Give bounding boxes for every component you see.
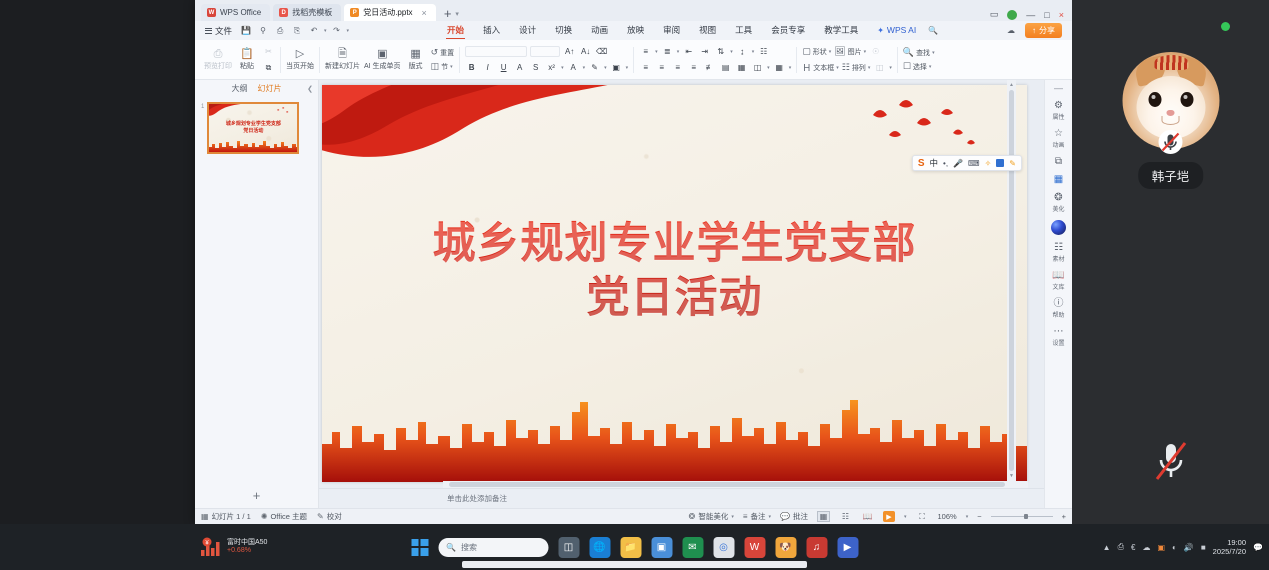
textbox-label: 文本框 (813, 63, 834, 73)
app-tab-label: 找稻壳模板 (292, 7, 332, 18)
slide-icon: ▦ (201, 512, 209, 521)
chevron-down-icon: ▾ (932, 50, 935, 56)
arrange-button[interactable]: ☷ 排列 ▾ (842, 62, 871, 73)
slide-count-indicator[interactable]: ▦ 幻灯片 1 / 1 (201, 511, 251, 522)
toolbox-icon[interactable]: ✧ (985, 159, 992, 168)
app-icon[interactable]: ▣ (1157, 543, 1165, 552)
qq-icon[interactable]: 🐶 (775, 537, 796, 558)
copy-icon[interactable]: ⧉ (262, 61, 275, 74)
ribbon-group-clipboard: ⎙ 预览打印 📋 粘贴 ✂ ⧉ (199, 40, 280, 79)
highlight-color-icon[interactable]: ✎ (588, 61, 601, 74)
align-right-icon[interactable]: ≡ (671, 61, 684, 74)
comment-icon: 💬 (780, 512, 790, 521)
chevron-down-icon[interactable]: ▾ (966, 514, 969, 520)
tab-teaching-tools[interactable]: 教学工具 (815, 21, 867, 40)
icon-library-icon[interactable]: ☉ (869, 45, 882, 58)
columns-icon[interactable]: ▤ (719, 61, 732, 74)
close-window-icon[interactable]: × (1059, 10, 1064, 20)
close-tab-icon[interactable]: × (422, 8, 427, 18)
align-objects-icon[interactable]: ◫ (873, 61, 886, 74)
clear-format-icon[interactable]: ⌫ (595, 45, 608, 58)
align-left-icon[interactable]: ≡ (639, 61, 652, 74)
cat-eye-right (1180, 92, 1193, 107)
shape-button[interactable]: ▢ 形状 ▾ (802, 46, 831, 57)
tab-outline[interactable]: 大纲 (232, 83, 248, 94)
desktop-strip (462, 561, 807, 568)
tab-list-chevron-icon[interactable]: ▾ (455, 10, 459, 21)
sidebar-item-library[interactable]: 📖 文库 (1045, 270, 1072, 291)
layout-label: 版式 (409, 61, 423, 71)
undo-icon[interactable]: ↶ (307, 24, 321, 38)
punctuation-icon[interactable]: •, (943, 159, 948, 168)
slide-thumbnail-1[interactable]: 城乡规划专业学生党支部 党日活动 (207, 102, 299, 154)
ribbon-group-objects: ▢ 形状 ▾ 🖼 图片 ▾ ☉ Ｈ (797, 40, 897, 79)
chevron-down-icon: ▾ (769, 514, 772, 520)
chevron-down-icon: ▾ (731, 514, 734, 520)
zoom-in-button[interactable]: + (1062, 512, 1066, 521)
notes-label: 备注 (751, 511, 766, 522)
stock-info: 富时中国A50 +0.68% (227, 539, 267, 555)
slideshow-button[interactable]: ▶ (883, 511, 895, 522)
shape-icon: ▢ (802, 46, 811, 57)
search-icon[interactable]: 🔍 (926, 24, 940, 38)
chevron-down-icon[interactable]: ▾ (677, 49, 680, 55)
zoom-out-button[interactable]: − (977, 512, 981, 521)
number-list-icon[interactable]: ≣ (661, 45, 674, 58)
stock-change: +0.68% (227, 547, 267, 555)
bullet-list-icon[interactable]: ≡ (639, 45, 652, 58)
library-icon: 📖 (1052, 270, 1064, 281)
windows-start-icon[interactable] (411, 539, 428, 556)
thumbnail-title-line2: 党日活动 (209, 128, 297, 135)
beautify-icon: ❂ (689, 512, 696, 521)
chevron-down-icon[interactable]: ▾ (767, 65, 770, 71)
text-effect-icon[interactable]: A (513, 61, 526, 74)
undo-chevron-icon[interactable]: ▾ (324, 28, 327, 34)
text-direction-icon[interactable]: ↨ (736, 45, 749, 58)
sidebar-item-apps[interactable]: ▦ (1045, 174, 1072, 185)
search-input[interactable]: 🔍 搜索 (438, 538, 548, 557)
share-button[interactable]: ↑ 分享 (1025, 23, 1062, 38)
app-tab-label: WPS Office (220, 8, 261, 17)
select-icon: ☐ (903, 61, 911, 72)
scroll-down-icon[interactable]: ▼ (1009, 473, 1014, 479)
ribbon-group-start-here: ▷ 当页开始 (281, 40, 319, 79)
clock-time: 19:00 (1227, 538, 1246, 547)
ai-sphere-icon (1051, 220, 1066, 235)
red-ribbon-graphic (207, 102, 262, 119)
slide-number: 1 (201, 102, 204, 154)
textbox-icon: Ｈ (802, 61, 811, 74)
slide-title-line1: 城乡规划专业学生党支部 (322, 217, 1027, 271)
tab-transition[interactable]: 切换 (546, 21, 581, 40)
search-icon: 🔍 (446, 543, 456, 552)
mic-muted-large-icon[interactable] (1154, 440, 1188, 482)
new-slide-button[interactable]: 🗎 新建幻灯片 (325, 48, 360, 71)
beautify-label: 智能美化 (698, 511, 728, 522)
save-icon[interactable]: 💾 (239, 24, 253, 38)
increase-font-size-icon[interactable]: A↑ (563, 45, 576, 58)
chevron-down-icon[interactable]: ▾ (604, 65, 607, 71)
folder-icon[interactable]: 📁 (620, 537, 641, 558)
sidebar-item-properties[interactable]: ⚙ 属性 (1045, 100, 1072, 121)
material-icon: ☷ (1054, 242, 1063, 253)
maximize-icon[interactable]: □ (1044, 10, 1049, 20)
ai-page-icon: ▣ (377, 48, 387, 60)
chevron-down-icon: ▾ (864, 49, 867, 55)
keyboard-icon[interactable]: ⌨ (968, 159, 980, 168)
docer-icon: D (279, 8, 288, 17)
theme-icon: ✺ (261, 512, 268, 521)
ribbon-tabs: 开始 插入 设计 切换 动画 放映 审阅 视图 工具 会员专享 教学工具 ✦ W… (438, 21, 940, 40)
minimize-icon[interactable]: — (1026, 10, 1035, 20)
clock-date: 2025/7/20 (1213, 547, 1246, 556)
new-slide-icon: 🗎 (338, 48, 347, 60)
voice-input-icon[interactable]: 🎤 (953, 159, 963, 168)
section-icon: ◫ (431, 61, 440, 72)
proofread-button[interactable]: ✎ 校对 (317, 511, 342, 522)
taskbar-clock[interactable]: 19:00 2025/7/20 (1213, 538, 1246, 556)
thumbnail-list: 1 城乡规划专业学生党支部 (195, 97, 318, 159)
taskbar-widget-stock[interactable]: ¥ 富时中国A50 +0.68% (200, 537, 267, 557)
table-icon[interactable]: ▦ (773, 61, 786, 74)
decrease-font-size-icon[interactable]: A↓ (579, 45, 592, 58)
reset-button[interactable]: ↺ 重置 (431, 47, 455, 58)
sogou-ime-toolbar[interactable]: S 中 •, 🎤 ⌨ ✧ ✎ (912, 155, 1022, 171)
tab-member[interactable]: 会员专享 (762, 21, 814, 40)
taskbar-center: 🔍 搜索 ◫ 🌐 📁 ▣ ✉ ◎ W 🐶 ♫ ▶ (411, 537, 858, 558)
status-bar-right: ❂ 智能美化 ▾ ≡ 备注 ▾ 💬 批注 ▦ ☷ 📖 ▶ ▾ ⛶ (689, 511, 1066, 522)
horizontal-scrollbar[interactable] (443, 481, 1028, 488)
underline-icon[interactable]: U (497, 61, 510, 74)
chevron-down-icon[interactable]: ▾ (889, 65, 892, 71)
file-menu-label: 文件 (215, 25, 232, 37)
birds-graphic (275, 106, 293, 115)
cat-eye-left (1148, 92, 1161, 107)
chevron-down-icon[interactable]: ▾ (752, 49, 755, 55)
align-vertical-icon[interactable]: ▦ (735, 61, 748, 74)
chevron-down-icon[interactable]: ▾ (583, 65, 586, 71)
tab-wps-ai[interactable]: ✦ WPS AI (868, 21, 925, 40)
wifi-icon[interactable]: ◐ (1172, 543, 1177, 552)
italic-icon[interactable]: I (481, 61, 494, 74)
line-spacing-icon[interactable]: ⇅ (714, 45, 727, 58)
find-label: 查找 (916, 48, 930, 58)
birds-graphic (855, 99, 985, 159)
chevron-up-icon[interactable]: ▲ (1103, 543, 1111, 552)
indent-decrease-icon[interactable]: ⇤ (682, 45, 695, 58)
thumbnail-title: 城乡规划专业学生党支部 党日活动 (209, 121, 297, 134)
proofread-label: 校对 (327, 511, 342, 522)
system-tray: ▲ ⎙ € ☁ ▣ ◐ 🔊 ■ 19:00 2025/7/20 💬 (1103, 538, 1263, 556)
wps-office-window: W WPS Office D 找稻壳模板 P 党日活动.pptx × + ▾ ▭… (195, 0, 1072, 524)
print-preview-icon: ⎙ (214, 48, 223, 60)
search-icon: 🔍 (903, 47, 914, 58)
layout-button[interactable]: ▦ 版式 (405, 48, 427, 71)
scroll-up-icon[interactable]: ▲ (1009, 82, 1014, 88)
section-button[interactable]: ◫ 节 ▾ (431, 61, 455, 72)
online-dot-icon (1221, 22, 1230, 31)
chevron-down-icon: ▾ (836, 65, 839, 71)
sidebar-item-animation[interactable]: ☆ 动画 (1045, 128, 1072, 149)
font-row-top: A↑ A↓ ⌫ (465, 45, 628, 58)
slide-sorter-view-button[interactable]: ☷ (839, 511, 852, 522)
sidebar-item-label: 文库 (1052, 282, 1064, 291)
superscript-icon[interactable]: x² (545, 61, 558, 74)
paste-icon: 📋 (240, 48, 254, 60)
zoom-level-label[interactable]: 106% (938, 512, 957, 521)
font-family-input[interactable] (465, 46, 527, 57)
sidebar-item-label: 属性 (1052, 112, 1064, 121)
add-slide-button[interactable]: + (195, 482, 318, 508)
app-tab-wps-office[interactable]: W WPS Office (201, 4, 270, 21)
chevron-down-icon[interactable]: ▾ (904, 514, 907, 520)
slide-count-label: 幻灯片 1 / 1 (212, 511, 251, 522)
collapse-sidebar-icon[interactable]: — (1054, 83, 1063, 93)
print-preview-button[interactable]: ⎙ 预览打印 (204, 48, 232, 71)
textbox-button[interactable]: Ｈ 文本框 ▾ (802, 61, 839, 74)
start-from-current-slide-button[interactable]: ▷ 当页开始 (286, 48, 314, 71)
properties-icon: ⚙ (1054, 100, 1063, 111)
cloud-icon[interactable]: ☁ (1142, 543, 1150, 552)
status-bar: ▦ 幻灯片 1 / 1 ✺ Office 主题 ✎ 校对 ❂ 智能美化 ▾ ≡ (195, 508, 1072, 524)
skyline-graphic (322, 382, 1027, 482)
music-icon[interactable]: ♫ (806, 537, 827, 558)
sidebar-item-settings[interactable]: ⋯ 设置 (1045, 326, 1072, 347)
task-view-icon[interactable]: ◫ (558, 537, 579, 558)
arrange-label: 排列 (852, 63, 866, 73)
more-settings-icon: ⋯ (1054, 326, 1064, 337)
strikethrough-icon[interactable]: S (529, 61, 542, 74)
video-icon[interactable]: ▶ (837, 537, 858, 558)
chevron-left-icon[interactable]: ❮ (307, 85, 313, 93)
clipboard-icon: ⧉ (1055, 156, 1062, 167)
tab-animation[interactable]: 动画 (582, 21, 617, 40)
select-label: 选择 (913, 62, 927, 72)
editor-body: 大纲 幻灯片 ❮ 1 (195, 80, 1072, 508)
app-tab-presentation[interactable]: P 党日活动.pptx × (344, 4, 436, 21)
arrange-icon: ☷ (842, 62, 850, 73)
cloud-sync-icon[interactable]: ☁ (1004, 24, 1018, 38)
menu-bar: 文件 💾 ⚲ ⎙ ⎘ ↶ ▾ ↷ ▾ 开始 插入 设计 切换 动画 放映 审阅 … (195, 21, 1072, 40)
hamburger-icon (205, 28, 212, 34)
sidebar-item-label: 帮助 (1052, 310, 1064, 319)
restore-icon[interactable]: ▭ (990, 9, 999, 20)
bold-icon[interactable]: B (465, 61, 478, 74)
picture-label: 图片 (848, 47, 862, 57)
picture-icon: 🖼 (834, 46, 845, 57)
stock-chart-icon: ¥ (200, 537, 222, 557)
sogou-ime-icon[interactable]: € (1131, 543, 1135, 552)
wps-icon: W (207, 8, 216, 17)
customize-chevron-icon[interactable]: ▾ (347, 28, 350, 34)
redo-icon[interactable]: ↷ (330, 24, 344, 38)
comments-label: 批注 (793, 511, 808, 522)
stock-name: 富时中国A50 (227, 539, 267, 547)
participant-avatar[interactable] (1122, 52, 1219, 149)
ai-star-icon: ✦ (877, 21, 884, 40)
tab-slides[interactable]: 幻灯片 (258, 83, 282, 94)
slide-title-line2: 党日活动 (322, 271, 1027, 325)
slide-title[interactable]: 城乡规划专业学生党支部 党日活动 (322, 217, 1027, 325)
slide-canvas-pane: 城乡规划专业学生党支部 党日活动 S (319, 80, 1044, 508)
ribbon-group-paragraph: ≡ ▾ ≣ ▾ ⇤ ⇥ ⇅ ▾ ↨ ▾ ☷ ≡ ≡ (634, 40, 796, 79)
app-tab-label: 党日活动.pptx (363, 7, 412, 18)
red-ribbon-graphic (322, 85, 712, 193)
layout-icon: ▦ (410, 48, 420, 60)
character-shading-icon[interactable]: ▣ (610, 61, 623, 74)
share-label: 分享 (1039, 25, 1055, 36)
sidebar-item-material[interactable]: ☷ 素材 (1045, 242, 1072, 263)
ai-generate-page-button[interactable]: ▣ AI 生成单页 (364, 48, 401, 71)
animation-star-icon: ☆ (1054, 128, 1063, 139)
sidebar-item-clipboard[interactable]: ⧉ (1045, 156, 1072, 167)
file-menu-button[interactable]: 文件 (201, 25, 236, 37)
print-preview-label: 预览打印 (204, 61, 232, 71)
smartart-icon[interactable]: ☷ (757, 45, 770, 58)
slide-canvas[interactable]: 城乡规划专业学生党支部 党日活动 (322, 85, 1027, 482)
sidebar-item-label: 素材 (1052, 254, 1064, 263)
search-doc-icon[interactable]: ⚲ (256, 24, 270, 38)
notification-icon[interactable]: 💬 (1253, 543, 1263, 552)
chevron-down-icon[interactable]: ▾ (730, 49, 733, 55)
play-circle-icon: ▷ (296, 48, 304, 60)
chrome-icon[interactable]: ◎ (713, 537, 734, 558)
normal-view-button[interactable]: ▦ (817, 511, 830, 522)
chevron-down-icon: ▾ (868, 65, 871, 71)
ribbon-toolbar: ⎙ 预览打印 📋 粘贴 ✂ ⧉ ▷ 当页开始 (195, 40, 1072, 80)
align-center-icon[interactable]: ≡ (655, 61, 668, 74)
picture-button[interactable]: 🖼 图片 ▾ (834, 46, 866, 57)
slide-area: 城乡规划专业学生党支部 党日活动 (319, 80, 1044, 488)
sidebar-item-beautify[interactable]: ❂ 美化 (1045, 192, 1072, 213)
start-here-label: 当页开始 (286, 61, 314, 71)
chevron-down-icon[interactable]: ▾ (561, 65, 564, 71)
chevron-down-icon: ▾ (929, 64, 932, 70)
ribbon-group-slides: 🗎 新建幻灯片 ▣ AI 生成单页 ▦ 版式 ↺ 重置 (320, 40, 459, 79)
align-justify-icon[interactable]: ≡ (687, 61, 700, 74)
search-placeholder: 搜索 (461, 542, 477, 553)
comments-button[interactable]: 💬 批注 (780, 511, 808, 522)
ribbon-group-font: A↑ A↓ ⌫ B I U A S x² ▾ A ▾ ✎ (460, 40, 633, 79)
share-icon: ↑ (1032, 26, 1036, 35)
notes-placeholder: 单击此处添加备注 (447, 493, 507, 504)
distribute-icon[interactable]: ≢ (703, 61, 716, 74)
new-slide-label: 新建幻灯片 (325, 61, 360, 71)
zoom-slider-handle[interactable] (1024, 514, 1028, 519)
font-row-bottom: B I U A S x² ▾ A ▾ ✎ ▾ ▣ ▾ (465, 61, 628, 74)
sogou-icon: S (918, 158, 925, 169)
chevron-down-icon[interactable]: ▾ (655, 49, 658, 55)
edge-icon[interactable]: 🌐 (589, 537, 610, 558)
font-size-input[interactable] (530, 46, 560, 57)
ime-mode-label[interactable]: 中 (930, 157, 939, 169)
reading-view-button[interactable]: 📖 (861, 511, 874, 522)
theme-label: Office 主题 (270, 511, 307, 522)
status-dot-icon (1007, 10, 1017, 20)
sidebar-item-label: 动画 (1052, 140, 1064, 149)
notes-pane[interactable]: 单击此处添加备注 (319, 488, 1044, 508)
chevron-down-icon: ▾ (450, 64, 453, 70)
ai-generate-label: AI 生成单页 (364, 61, 401, 71)
scroll-thumb[interactable] (1009, 90, 1014, 471)
find-button[interactable]: 🔍 查找 ▾ (903, 47, 935, 58)
paragraph-row-top: ≡ ▾ ≣ ▾ ⇤ ⇥ ⇅ ▾ ↨ ▾ ☷ (639, 45, 791, 58)
tab-tools[interactable]: 工具 (726, 21, 761, 40)
print-preview-icon[interactable]: ⎘ (290, 24, 304, 38)
beautify-button[interactable]: ❂ 智能美化 ▾ (689, 511, 734, 522)
cat-mouth (1162, 116, 1180, 125)
paste-button[interactable]: 📋 粘贴 (236, 48, 258, 71)
sidebar-item-ai[interactable] (1045, 220, 1072, 235)
chevron-down-icon[interactable]: ▾ (626, 65, 629, 71)
mail-icon[interactable]: ✉ (682, 537, 703, 558)
cat-headband (1154, 55, 1188, 70)
printer-icon[interactable]: ⎙ (1118, 542, 1124, 552)
vertical-scrollbar[interactable]: ▲ ▼ (1007, 80, 1016, 481)
skin-icon[interactable]: ✎ (1009, 159, 1016, 168)
tab-review[interactable]: 审阅 (654, 21, 689, 40)
sidebar-item-label: 设置 (1052, 338, 1064, 347)
color-apps-icon: ▦ (1054, 174, 1063, 185)
mic-muted-icon (1158, 129, 1184, 155)
right-tool-sidebar: — ⚙ 属性 ☆ 动画 ⧉ ▦ ❂ 美化 (1044, 80, 1072, 508)
help-icon: ⓘ (1054, 298, 1064, 309)
skyline-graphic (209, 138, 299, 152)
scissors-icon[interactable]: ✂ (262, 45, 275, 58)
apps-icon[interactable] (996, 159, 1004, 167)
fit-slide-button[interactable]: ⛶ (916, 511, 929, 522)
notes-icon: ≡ (743, 512, 748, 521)
menu-bar-right: ☁ ↑ 分享 (1004, 23, 1066, 38)
zoom-slider[interactable] (991, 516, 1053, 517)
ribbon-group-editing: 🔍 查找 ▾ ☐ 选择 ▾ (898, 40, 940, 79)
shape-label: 形状 (813, 47, 827, 57)
proofread-icon: ✎ (317, 512, 324, 521)
chevron-down-icon[interactable]: ▾ (789, 65, 792, 71)
window-controls: ▭ — □ × (990, 9, 1072, 20)
reset-icon: ↺ (431, 47, 439, 58)
new-tab-icon[interactable]: + (439, 7, 456, 21)
paste-label: 粘贴 (240, 61, 254, 71)
notes-button[interactable]: ≡ 备注 ▾ (743, 511, 771, 522)
tab-start[interactable]: 开始 (438, 21, 473, 40)
tab-view[interactable]: 视图 (690, 21, 725, 40)
section-label: 节 (441, 62, 448, 72)
participant-name: 韩子垲 (1138, 162, 1204, 189)
scroll-thumb[interactable] (449, 482, 1005, 487)
indent-increase-icon[interactable]: ⇥ (698, 45, 711, 58)
store-icon[interactable]: ▣ (651, 537, 672, 558)
theme-indicator[interactable]: ✺ Office 主题 (261, 511, 307, 522)
sidebar-item-help[interactable]: ⓘ 帮助 (1045, 298, 1072, 319)
ppt-icon: P (350, 8, 359, 17)
beautify-icon: ❂ (1054, 192, 1062, 203)
tab-slideshow[interactable]: 放映 (618, 21, 653, 40)
reset-label: 重置 (440, 48, 454, 58)
text-align-box-icon[interactable]: ◫ (751, 61, 764, 74)
select-button[interactable]: ☐ 选择 ▾ (903, 61, 935, 72)
app-tab-docer[interactable]: D 找稻壳模板 (273, 4, 341, 21)
tab-insert[interactable]: 插入 (474, 21, 509, 40)
title-bar: W WPS Office D 找稻壳模板 P 党日活动.pptx × + ▾ ▭… (195, 0, 1072, 21)
battery-icon[interactable]: ■ (1201, 543, 1206, 552)
font-color-icon[interactable]: A (567, 61, 580, 74)
print-icon[interactable]: ⎙ (273, 24, 287, 38)
volume-icon[interactable]: 🔊 (1184, 543, 1194, 552)
tab-design[interactable]: 设计 (510, 21, 545, 40)
wps-icon[interactable]: W (744, 537, 765, 558)
